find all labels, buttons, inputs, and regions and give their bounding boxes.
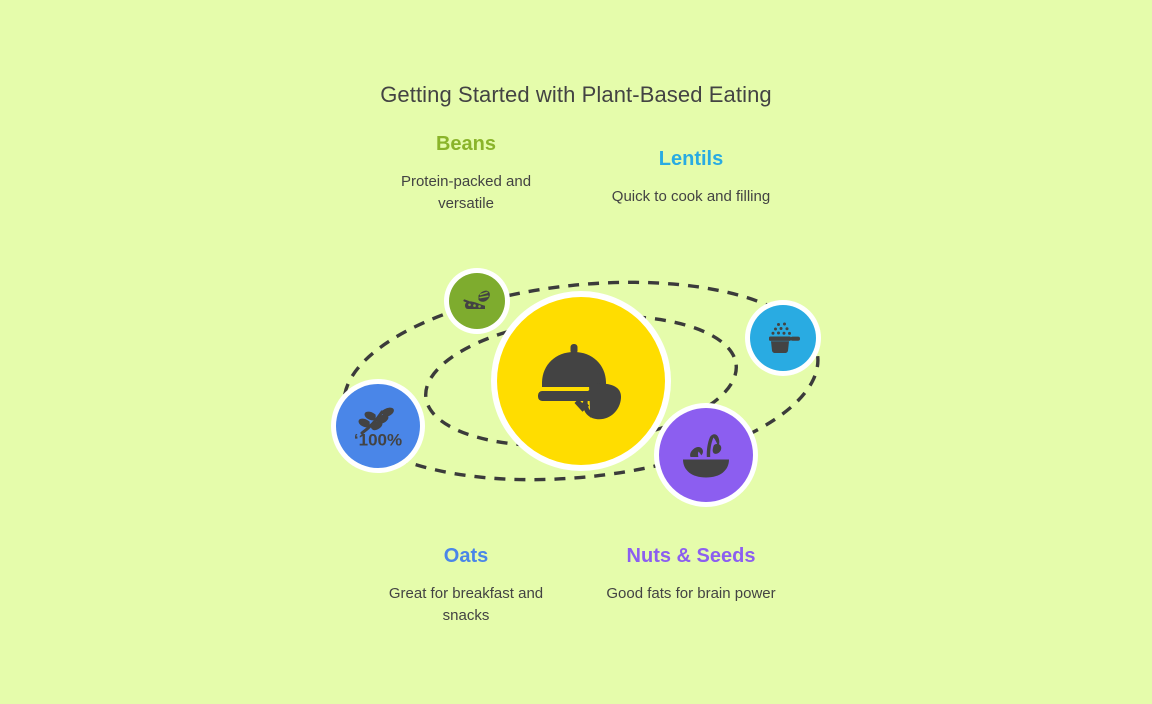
label-desc-nuts-seeds: Good fats for brain power — [597, 583, 785, 605]
cooking-pot-icon — [762, 317, 804, 359]
center-node-plant-based-meal[interactable] — [497, 297, 665, 465]
label-heading-lentils: Lentils — [597, 148, 785, 170]
bean-pods-icon — [459, 283, 495, 319]
oats-icon-text: ‘100% — [354, 431, 402, 450]
label-block-nuts-seeds: Nuts & Seeds Good fats for brain power — [597, 545, 785, 605]
label-block-oats: Oats Great for breakfast and snacks — [375, 545, 557, 627]
label-block-lentils: Lentils Quick to cook and filling — [597, 148, 785, 208]
infographic-canvas: Getting Started with Plant-Based Eating — [0, 0, 1152, 704]
seed-bowl-icon — [676, 425, 736, 485]
node-oats[interactable]: ‘100% — [336, 384, 420, 468]
label-block-beans: Beans Protein-packed and versatile — [375, 133, 557, 215]
label-desc-beans: Protein-packed and versatile — [375, 171, 557, 215]
label-heading-beans: Beans — [375, 133, 557, 155]
label-heading-oats: Oats — [375, 545, 557, 567]
label-desc-lentils: Quick to cook and filling — [597, 186, 785, 208]
node-lentils[interactable] — [750, 305, 816, 371]
node-nuts-seeds[interactable] — [659, 408, 753, 502]
wheat-stalk-100-percent-icon: ‘100% — [349, 397, 407, 455]
label-desc-oats: Great for breakfast and snacks — [375, 583, 557, 627]
label-heading-nuts-seeds: Nuts & Seeds — [597, 545, 785, 567]
node-beans[interactable] — [449, 273, 505, 329]
cloche-leaf-icon — [529, 329, 633, 433]
